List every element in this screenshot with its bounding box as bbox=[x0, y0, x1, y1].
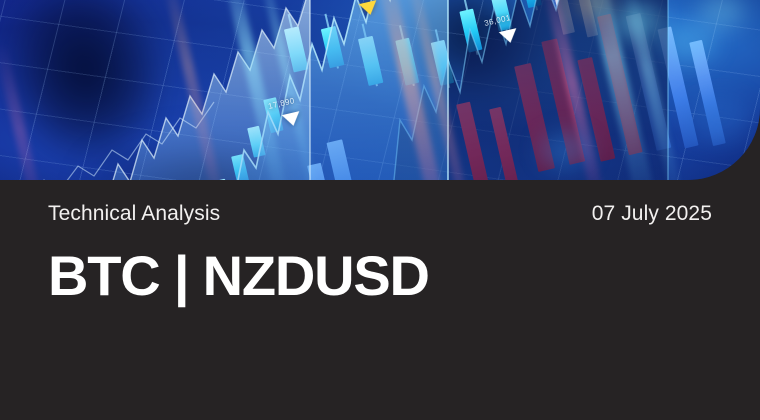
bokeh-highlight bbox=[540, 132, 590, 168]
bokeh-highlight bbox=[688, 96, 752, 144]
publish-date: 07 July 2025 bbox=[592, 203, 712, 224]
bokeh-highlight bbox=[662, 22, 716, 62]
bokeh-highlight bbox=[614, 4, 660, 38]
technical-analysis-card: 17,890 36,001 Technical Analysis 07 July… bbox=[0, 0, 760, 420]
category-label: Technical Analysis bbox=[48, 203, 220, 224]
card-body: Technical Analysis 07 July 2025 BTC | NZ… bbox=[0, 180, 760, 420]
page-title: BTC | NZDUSD bbox=[48, 248, 429, 304]
meta-row: Technical Analysis 07 July 2025 bbox=[48, 203, 712, 224]
financial-chart-header-image: 17,890 36,001 bbox=[0, 0, 760, 180]
